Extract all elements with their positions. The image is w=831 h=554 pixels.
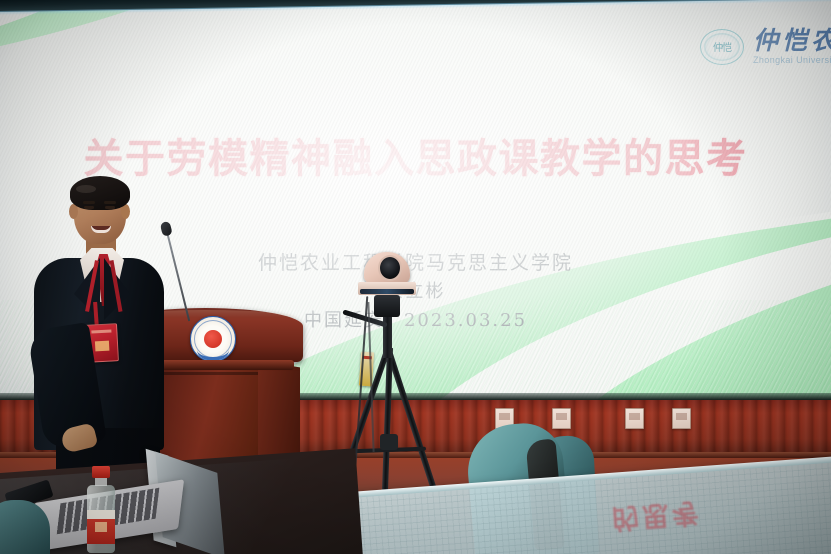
bottle-cap [92,466,110,478]
presenter-eyebrow-right [104,201,116,204]
screen-reflection-text: 的思考 [611,495,704,540]
camera-control-strip [360,289,414,294]
university-crest-icon [190,316,236,362]
screen-bezel-top [0,0,831,12]
wall-outlet [625,408,644,429]
logo-name-chinese: 仲恺农业 [753,28,831,53]
logo-name-english: Zhongkai University o [753,56,831,65]
crest-blue-arc [197,339,229,361]
tripod-leg [385,347,437,492]
camera-lens-icon [378,255,402,281]
water-bottle [86,466,116,552]
university-logo: 仲恺 仲恺农业 Zhongkai University o [700,28,831,65]
seal-mark-text: 仲恺 [713,39,731,54]
tripod-center-column [383,314,392,358]
university-seal-icon: 仲恺 [700,29,744,65]
photo-canvas: 仲恺 仲恺农业 Zhongkai University o 关于劳模精神融入思政… [0,0,831,554]
bottle-neck [95,477,107,486]
bottle-label [87,510,115,544]
presenter-eyebrow-left [83,201,95,204]
presenter-hair [70,176,130,210]
wall-outlet [672,408,691,429]
presenter-eye-right [105,206,115,209]
tripod-spreader [380,434,398,450]
wall-outlet [552,408,571,429]
presenter-eye-left [84,206,94,209]
tripod-head [374,295,400,317]
